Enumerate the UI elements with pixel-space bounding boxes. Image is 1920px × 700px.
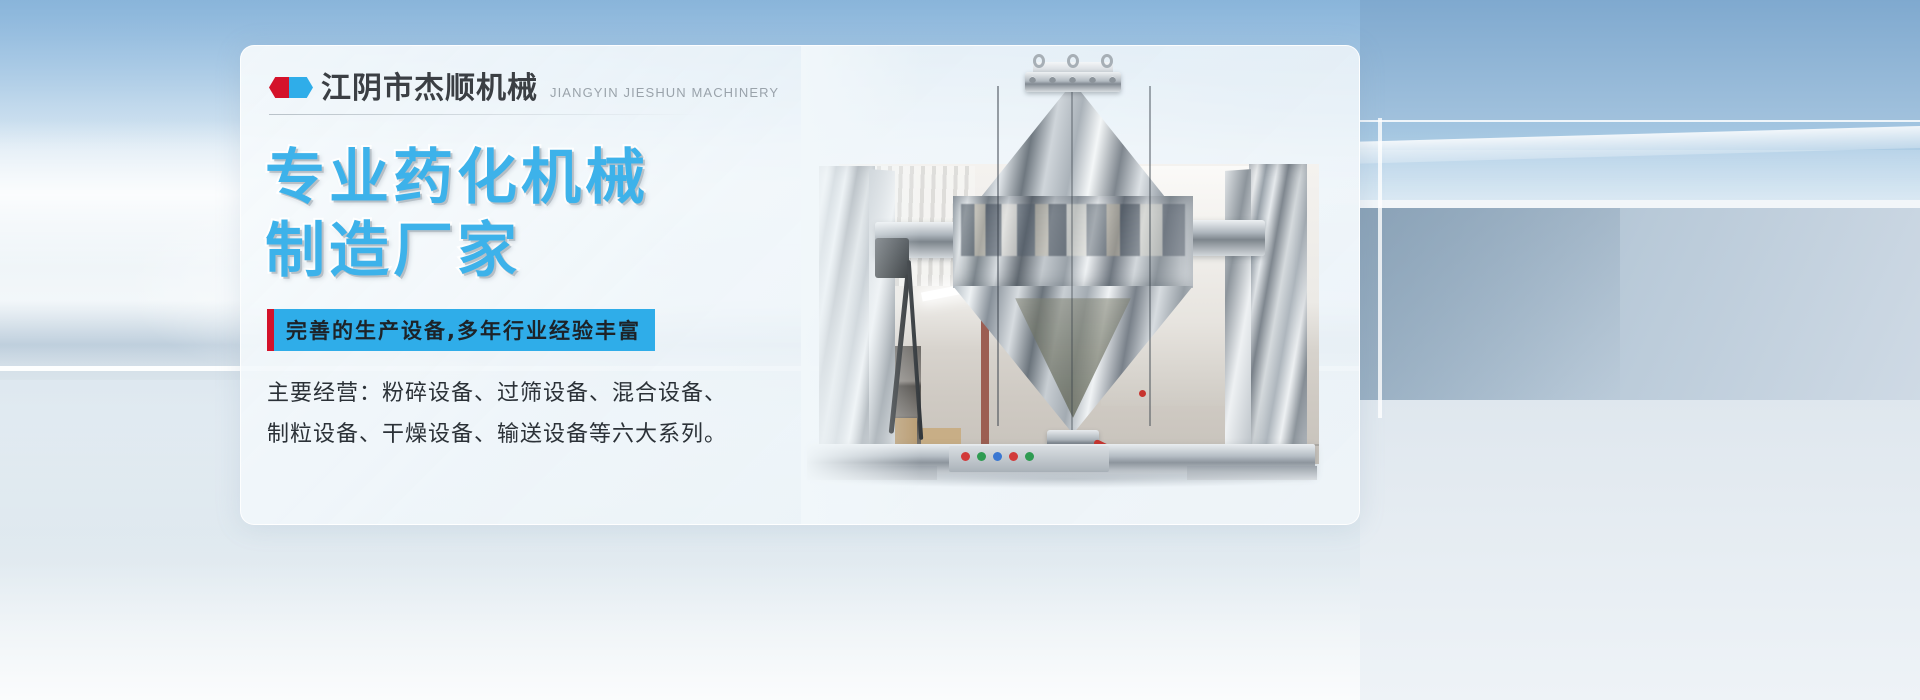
flange-bolt-3 bbox=[1069, 76, 1076, 83]
product-photo-left-fade bbox=[801, 46, 921, 525]
description-block: 主要经营：粉碎设备、过筛设备、混合设备、 制粒设备、干燥设备、输送设备等六大系列… bbox=[267, 374, 727, 455]
brand-name-cn: 江阴市杰顺机械 bbox=[321, 74, 538, 104]
highlight-banner: 完善的生产设备,多年行业经验丰富 bbox=[267, 309, 655, 351]
machine-support-leg-right-inner bbox=[1225, 169, 1251, 463]
headline-line-2: 制造厂家 bbox=[265, 215, 649, 288]
control-led-1 bbox=[961, 452, 970, 461]
banner-stage: 江阴市杰顺机械 JIANGYIN JIESHUN MACHINERY 专业药化机… bbox=[0, 0, 1920, 700]
architecture-wall-shadow bbox=[1360, 208, 1620, 408]
brand-name-en: JIANGYIN JIESHUN MACHINERY bbox=[550, 85, 779, 100]
brand-divider bbox=[269, 114, 699, 115]
lifting-lug-1 bbox=[1033, 54, 1045, 68]
highlight-banner-text: 完善的生产设备,多年行业经验丰富 bbox=[286, 315, 641, 345]
hexagon-cyan-icon bbox=[289, 77, 313, 98]
architecture-sky-panel bbox=[1360, 0, 1920, 150]
machine-seam-left bbox=[997, 86, 999, 426]
machine-seam-right bbox=[1149, 86, 1151, 426]
machine-indicator-dot bbox=[1139, 390, 1146, 397]
flange-bolt-5 bbox=[1109, 76, 1116, 83]
flange-bolt-2 bbox=[1049, 76, 1056, 83]
product-photo bbox=[801, 46, 1360, 525]
hexagon-pair-logo-icon bbox=[269, 76, 315, 100]
foreground-fade-band bbox=[0, 560, 1920, 700]
machine-band-reflection bbox=[961, 204, 1185, 256]
lifting-lug-2 bbox=[1067, 54, 1079, 68]
lifting-lug-3 bbox=[1101, 54, 1113, 68]
control-led-4 bbox=[1009, 452, 1018, 461]
architecture-beam bbox=[1360, 126, 1920, 164]
description-line-2: 制粒设备、干燥设备、输送设备等六大系列。 bbox=[267, 415, 727, 456]
architecture-wall bbox=[1360, 208, 1920, 408]
headline-line-1: 专业药化机械 bbox=[265, 142, 649, 215]
architecture-floor bbox=[1360, 400, 1920, 700]
control-led-5 bbox=[1025, 452, 1034, 461]
control-led-3 bbox=[993, 452, 1002, 461]
architecture-glass-railing bbox=[1360, 120, 1920, 202]
architecture-rail-cap bbox=[1360, 200, 1920, 210]
page-title: 专业药化机械 制造厂家 bbox=[265, 142, 649, 288]
flange-bolt-1 bbox=[1029, 76, 1036, 83]
flange-bolt-4 bbox=[1089, 76, 1096, 83]
brand-lockup[interactable]: 江阴市杰顺机械 JIANGYIN JIESHUN MACHINERY bbox=[269, 74, 779, 104]
machine-support-leg-right bbox=[1249, 164, 1307, 464]
description-line-1: 主要经营：粉碎设备、过筛设备、混合设备、 bbox=[267, 374, 727, 415]
architecture-edge-highlight bbox=[1378, 118, 1382, 418]
promo-card: 江阴市杰顺机械 JIANGYIN JIESHUN MACHINERY 专业药化机… bbox=[240, 45, 1360, 525]
machine-center-seam bbox=[1071, 82, 1073, 434]
control-led-2 bbox=[977, 452, 986, 461]
